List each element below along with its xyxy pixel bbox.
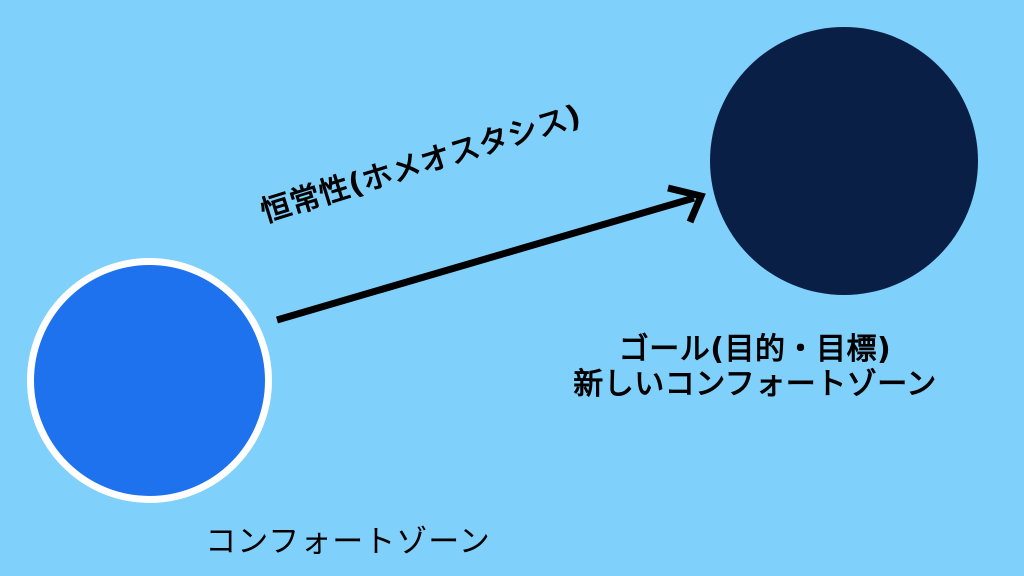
goal-label-line-2: 新しいコンフォートゾーン	[573, 367, 937, 402]
diagram-canvas: 恒常性(ホメオスタシス) ゴール(目的・目標) 新しいコンフォートゾーン コンフ…	[0, 0, 1024, 576]
arrow-shaft	[277, 198, 694, 320]
goal-label-line-1: ゴール(目的・目標)	[573, 332, 937, 367]
comfort-zone-label: コンフォートゾーン	[205, 524, 491, 561]
homeostasis-arrow	[0, 0, 1024, 576]
goal-label: ゴール(目的・目標) 新しいコンフォートゾーン	[573, 332, 937, 403]
